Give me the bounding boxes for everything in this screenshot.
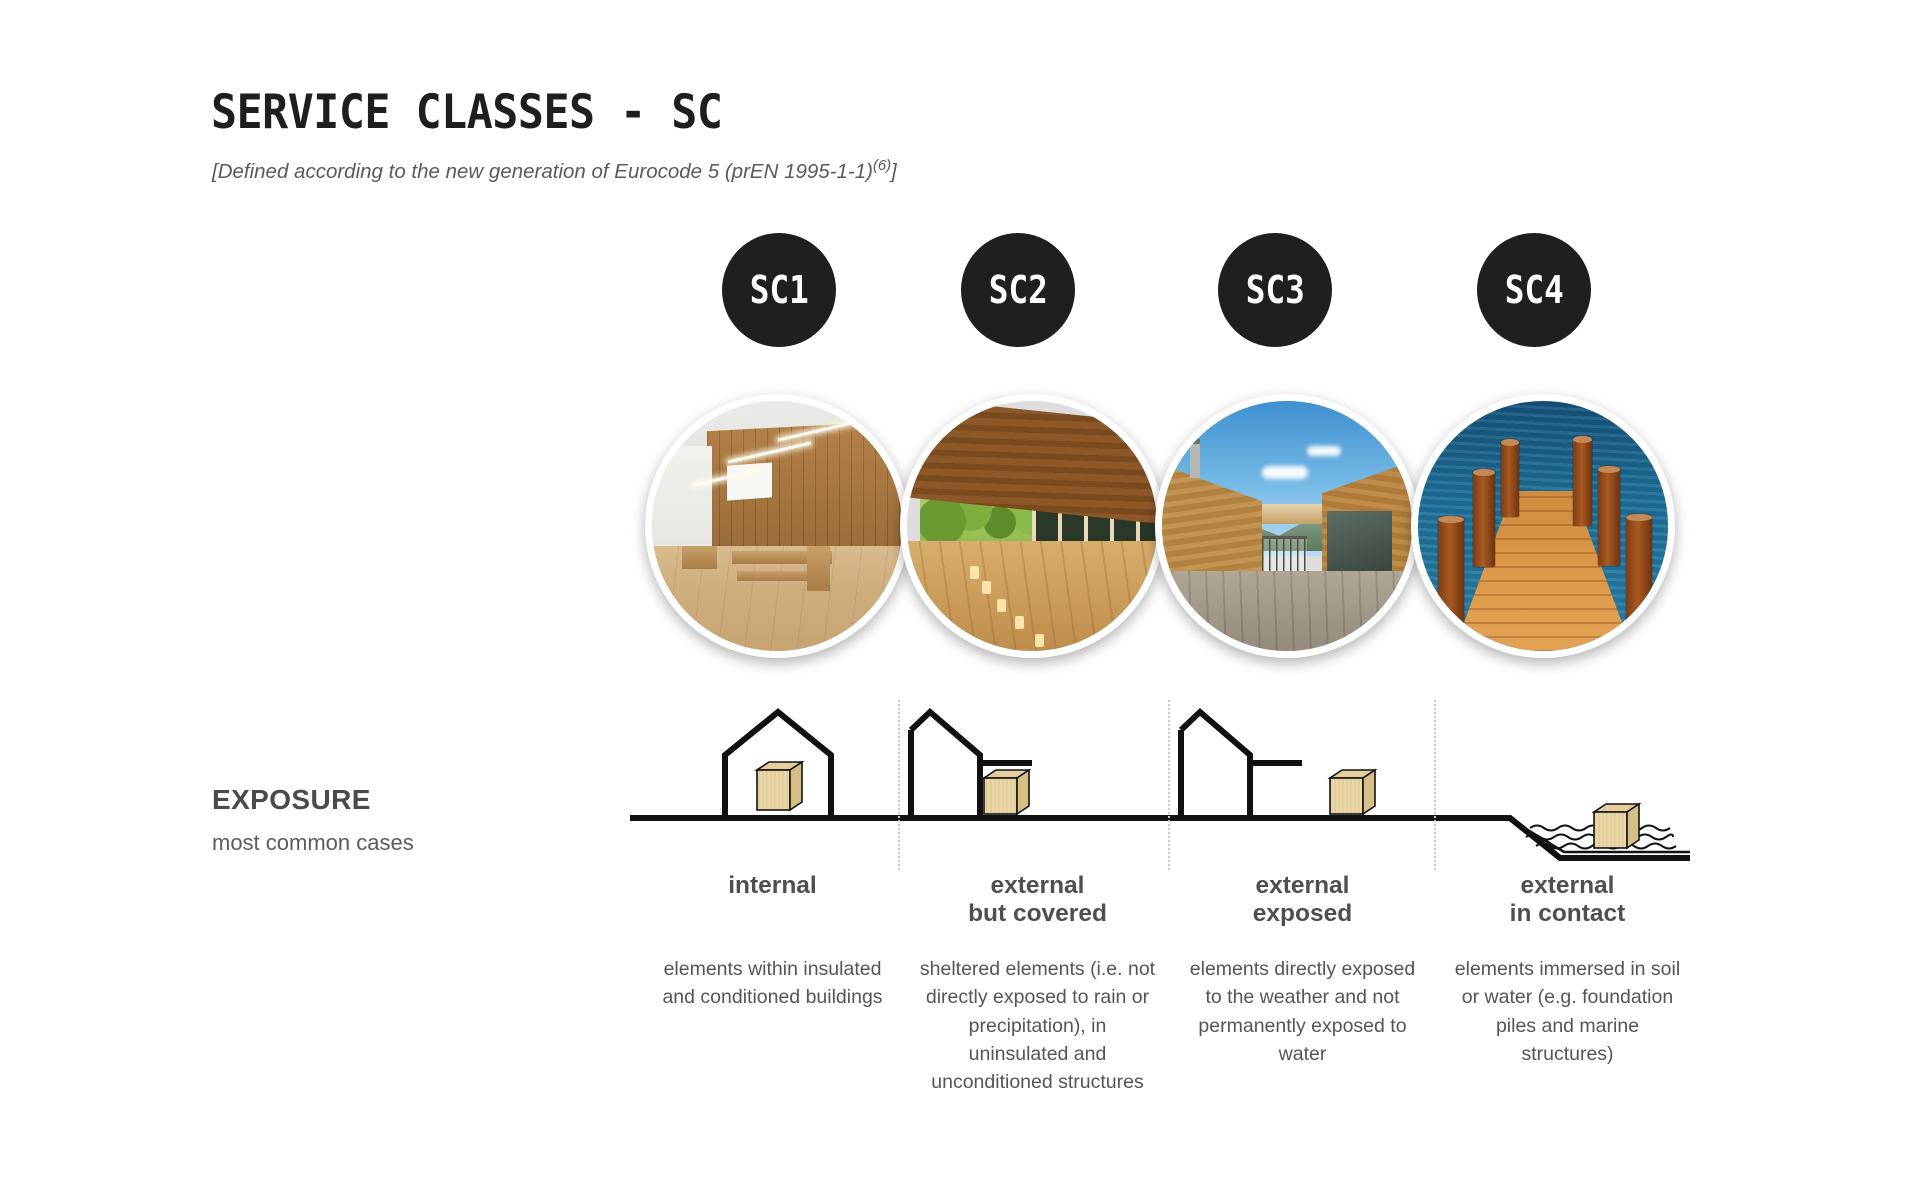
page-subtitle: [Defined according to the new generation… <box>212 158 897 184</box>
label-sc3: external exposed <box>1170 872 1435 929</box>
page-title: SERVICE CLASSES - SC <box>211 85 722 140</box>
description-sc3: elements directly exposed to the weather… <box>1170 955 1435 1096</box>
side-counter-shape <box>682 546 717 569</box>
photo-sc4-scene <box>1418 401 1668 651</box>
photo-sc2-external-but-covered <box>900 394 1164 658</box>
sunlight-patch <box>1015 616 1024 629</box>
label-sc2-line1: external <box>905 872 1170 900</box>
label-sc2: external but covered <box>905 872 1170 929</box>
subtitle-main: [Defined according to the new generation… <box>212 160 873 183</box>
deck-floor-shape <box>900 541 1164 658</box>
diagram-sc1-timber-block <box>757 762 802 810</box>
label-sc3-line1: external <box>1170 872 1435 900</box>
badge-sc3[interactable]: SC3 <box>1218 233 1332 347</box>
exposure-diagram-svg <box>630 700 1690 870</box>
label-sc1-line1: internal <box>640 872 905 900</box>
label-sc4: external in contact <box>1435 872 1700 929</box>
description-sc1: elements within insulated and conditione… <box>640 955 905 1096</box>
cloud-shape <box>1262 466 1308 479</box>
label-sc4-line2: in contact <box>1435 900 1700 928</box>
chimney-shape <box>1190 439 1200 478</box>
diagram-sc4-basin <box>1434 818 1690 858</box>
sunlight-patch <box>997 599 1006 612</box>
divider-sc3-sc4 <box>1434 700 1436 870</box>
pile-shape <box>1598 466 1620 566</box>
pile-shape <box>1501 439 1519 517</box>
badge-sc4-label: SC4 <box>1504 268 1563 312</box>
infographic-page: SERVICE CLASSES - SC [Defined according … <box>0 0 1920 1200</box>
badge-sc2[interactable]: SC2 <box>961 233 1075 347</box>
divider-sc2-sc3 <box>1168 700 1170 870</box>
photo-sc1-scene <box>652 401 902 651</box>
terrace-deck-shape <box>1157 571 1417 656</box>
badge-sc4[interactable]: SC4 <box>1477 233 1591 347</box>
description-sc4: elements immersed in soil or water (e.g.… <box>1435 955 1700 1096</box>
exposure-diagram <box>630 700 1690 870</box>
diagram-sc4-timber-block <box>1594 804 1639 848</box>
photo-sc4-external-in-contact <box>1411 394 1675 658</box>
exposure-subtitle: most common cases <box>212 830 414 856</box>
pile-shape <box>1438 516 1464 626</box>
diagram-sc3-timber-block <box>1330 770 1375 814</box>
photo-sc3-external-exposed <box>1155 394 1419 658</box>
pile-shape <box>1573 436 1592 526</box>
label-sc1: internal <box>640 872 905 929</box>
pile-shape <box>1626 514 1652 626</box>
label-sc4-line1: external <box>1435 872 1700 900</box>
description-sc2: sheltered elements (i.e. not directly ex… <box>905 955 1170 1096</box>
divider-sc1-sc2 <box>898 700 900 870</box>
badge-sc1[interactable]: SC1 <box>722 233 836 347</box>
badge-sc3-label: SC3 <box>1245 268 1304 312</box>
cloud-shape <box>1307 446 1341 456</box>
diagram-sc3-house <box>1181 712 1302 818</box>
window-shape <box>727 462 772 500</box>
exposure-descriptions: elements within insulated and conditione… <box>640 955 1700 1096</box>
label-sc2-line2: but covered <box>905 900 1170 928</box>
subtitle-tail: ] <box>891 160 897 183</box>
diagram-sc2-timber-block <box>984 770 1029 814</box>
sunlight-patch <box>1035 634 1044 647</box>
exposure-labels: internal external but covered external e… <box>640 872 1700 929</box>
cabinet-shape <box>807 546 830 591</box>
pile-shape <box>1473 469 1495 567</box>
subtitle-footnote-ref: (6) <box>873 158 891 174</box>
sunlight-patch <box>982 581 991 594</box>
photo-sc2-scene <box>907 401 1157 651</box>
sunlight-patch <box>970 566 979 579</box>
badge-sc1-label: SC1 <box>749 268 808 312</box>
photo-sc3-scene <box>1162 401 1412 651</box>
badge-sc2-label: SC2 <box>988 268 1047 312</box>
label-sc3-line2: exposed <box>1170 900 1435 928</box>
exposure-title: EXPOSURE <box>212 784 371 816</box>
photo-sc1-internal <box>645 394 909 658</box>
